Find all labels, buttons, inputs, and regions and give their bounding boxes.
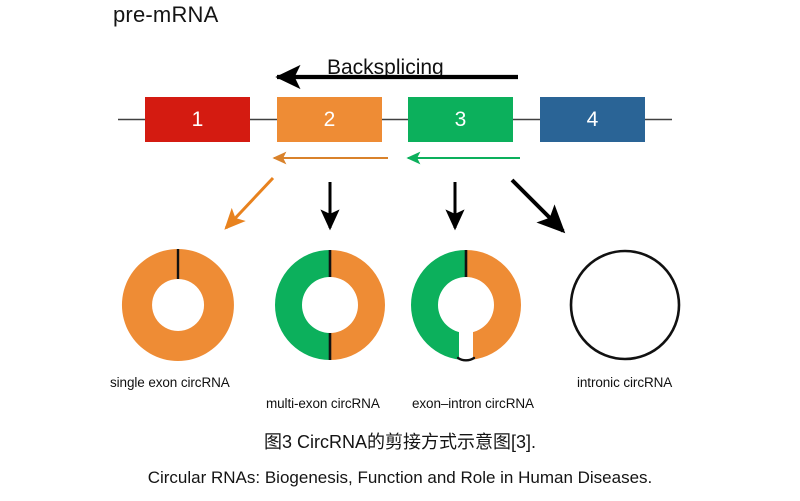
exon-intron-circrna-graphic [411,250,521,361]
multi-exon-circrna-graphic [275,250,385,360]
intronic-circrna-graphic [571,251,679,359]
multi-exon-circrna-label: multi-exon circRNA [266,396,380,411]
exon-intron-circrna-label: exon–intron circRNA [412,396,534,411]
exon-2-number: 2 [324,109,336,130]
single-exon-circrna-graphic [122,249,234,361]
exon-3[interactable]: 3 [408,97,513,142]
circrna-biogenesis-figure: pre-mRNA Backsplicing [0,0,800,501]
exon-1[interactable]: 1 [145,97,250,142]
arrow-to-single-exon [226,178,273,228]
exon-2[interactable]: 2 [277,97,382,142]
intronic-circrna-label: intronic circRNA [577,375,672,390]
exon-1-number: 1 [192,109,204,130]
exon-3-number: 3 [455,109,467,130]
exon-4-number: 4 [587,109,599,130]
figure-caption-chinese: 图3 CircRNA的剪接方式示意图[3]. [0,428,800,454]
figure-artwork [0,0,800,501]
figure-caption-english: Circular RNAs: Biogenesis, Function and … [0,468,800,488]
arrow-to-intronic [512,180,563,231]
single-exon-circrna-label: single exon circRNA [110,375,230,390]
exon-4[interactable]: 4 [540,97,645,142]
